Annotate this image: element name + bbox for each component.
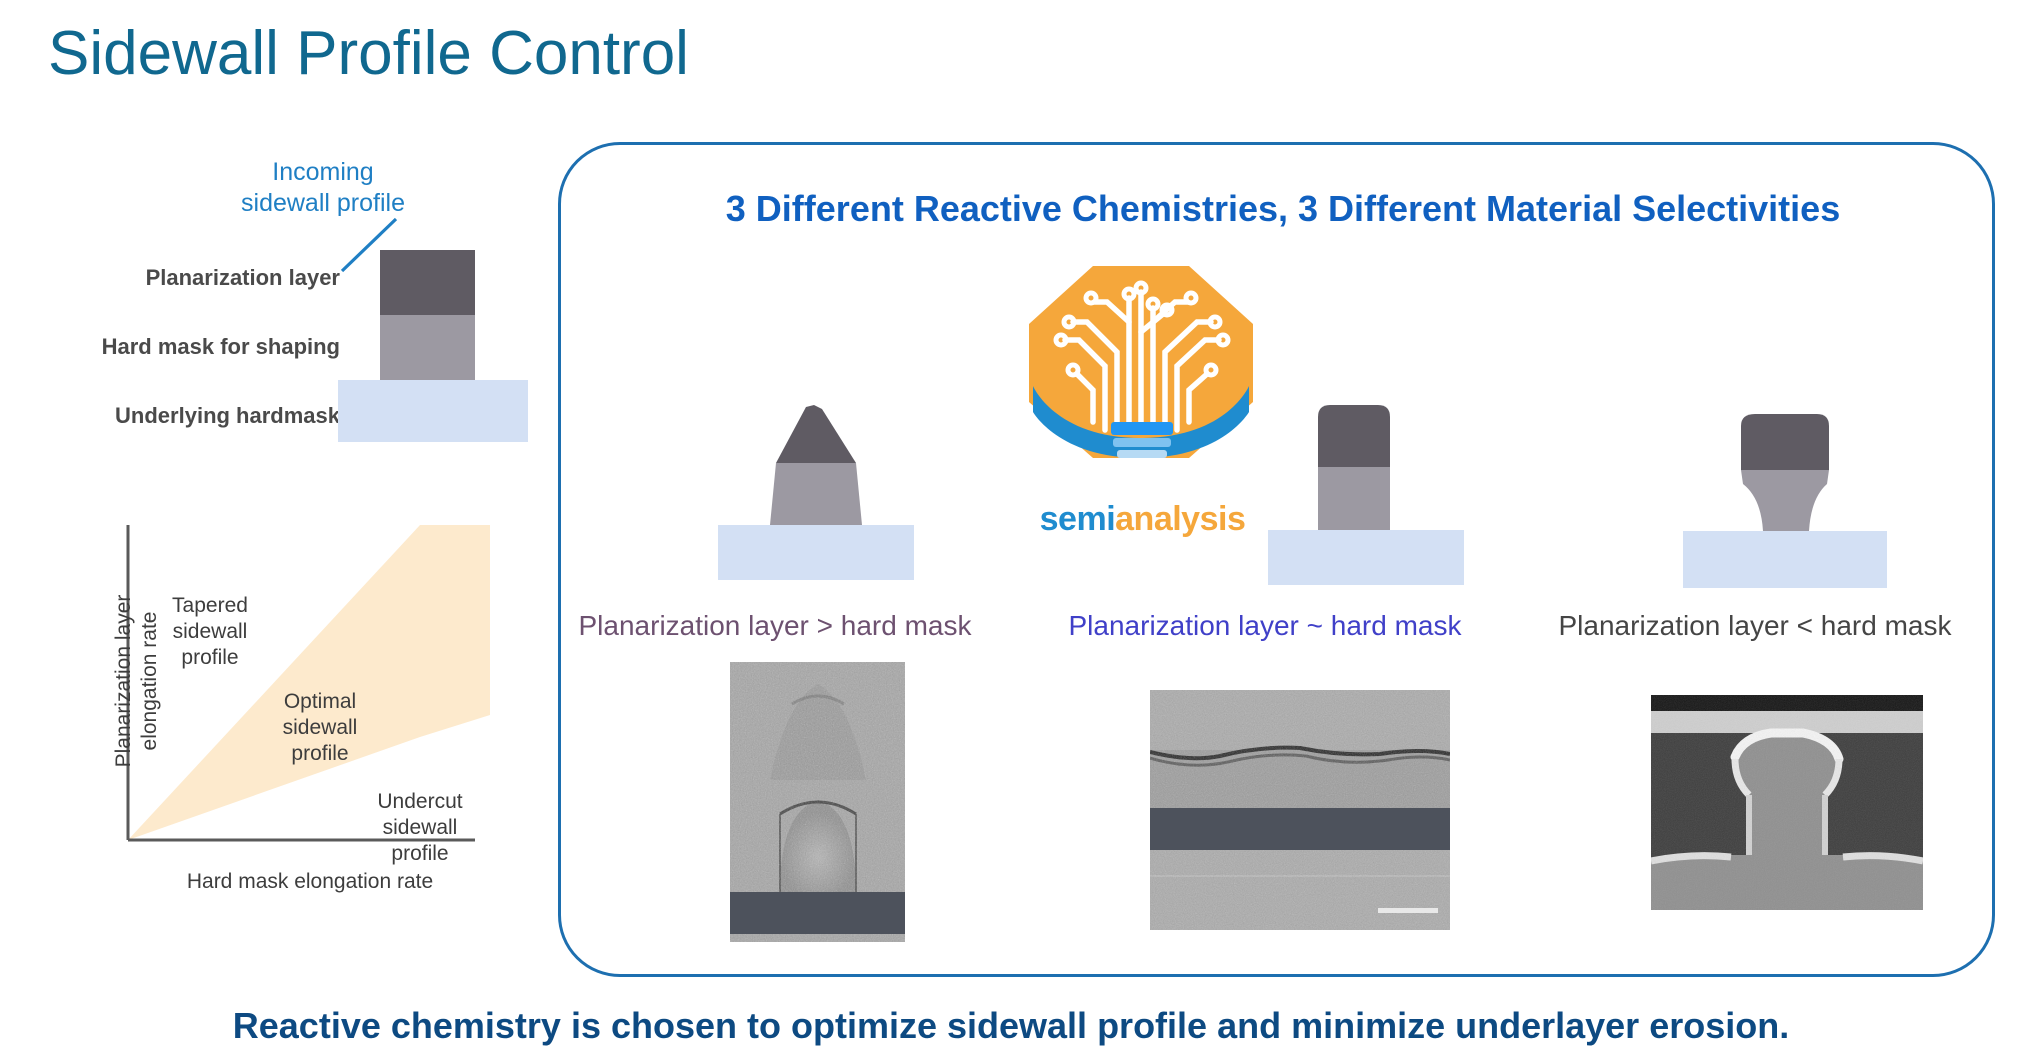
page-title: Sidewall Profile Control: [48, 18, 689, 89]
underlying-hardmask-base: [1268, 530, 1464, 585]
profile-illustration-undercut: [1675, 398, 1895, 588]
stack-label-underlying-hardmask: Underlying hardmask: [80, 403, 340, 429]
profile-illustration-tapered: [710, 395, 920, 580]
stack-label-planarization-layer: Planarization layer: [110, 265, 340, 291]
bottom-caption: Reactive chemistry is chosen to optimize…: [0, 1005, 2022, 1047]
hard-mask-body: [1318, 467, 1390, 530]
chart-note-optimal: Optimal sidewall profile: [260, 689, 380, 767]
micrograph-vertical-profile: [1150, 690, 1450, 930]
logo-word-semi: semi: [1040, 500, 1116, 538]
logo-word-analysis: analysis: [1115, 500, 1245, 538]
chart-note-undercut: Undercut sidewall profile: [360, 789, 480, 867]
stack-block-hard-mask: [380, 315, 475, 380]
planarization-cap: [1741, 414, 1829, 470]
chart-y-axis-label: Planarization layer elongation rate: [111, 546, 163, 816]
planarization-tip: [776, 405, 856, 463]
semianalysis-logo-icon: [1025, 262, 1257, 462]
stack-block-underlying-hardmask: [338, 380, 528, 442]
stack-block-planarization-layer: [380, 250, 475, 315]
column-caption-1: Planarization layer > hard mask: [540, 610, 1010, 642]
stack-label-hard-mask: Hard mask for shaping: [70, 334, 340, 360]
chart-x-axis-label: Hard mask elongation rate: [100, 870, 520, 894]
underlying-hardmask-base: [718, 525, 914, 580]
semianalysis-wordmark: semianalysis: [1020, 500, 1265, 539]
optimal-wedge-region-extension: [420, 525, 490, 737]
underlying-hardmask-base: [1683, 531, 1887, 588]
micrograph-undercut-profile: [1651, 695, 1923, 910]
column-caption-3: Planarization layer < hard mask: [1520, 610, 1990, 642]
panel-heading: 3 Different Reactive Chemistries, 3 Diff…: [618, 188, 1948, 230]
incoming-sidewall-callout-label: Incoming sidewall profile: [228, 157, 418, 219]
sidewall-profile-chart: Tapered sidewall profile Optimal sidewal…: [120, 525, 490, 895]
micrograph-tapered-profile: [730, 662, 905, 942]
hard-mask-waist: [1741, 470, 1829, 531]
planarization-body: [1318, 405, 1390, 467]
chart-note-tapered: Tapered sidewall profile: [150, 593, 270, 671]
column-caption-2: Planarization layer ~ hard mask: [1030, 610, 1500, 642]
hard-mask-body: [770, 463, 862, 525]
profile-illustration-vertical: [1260, 395, 1470, 585]
